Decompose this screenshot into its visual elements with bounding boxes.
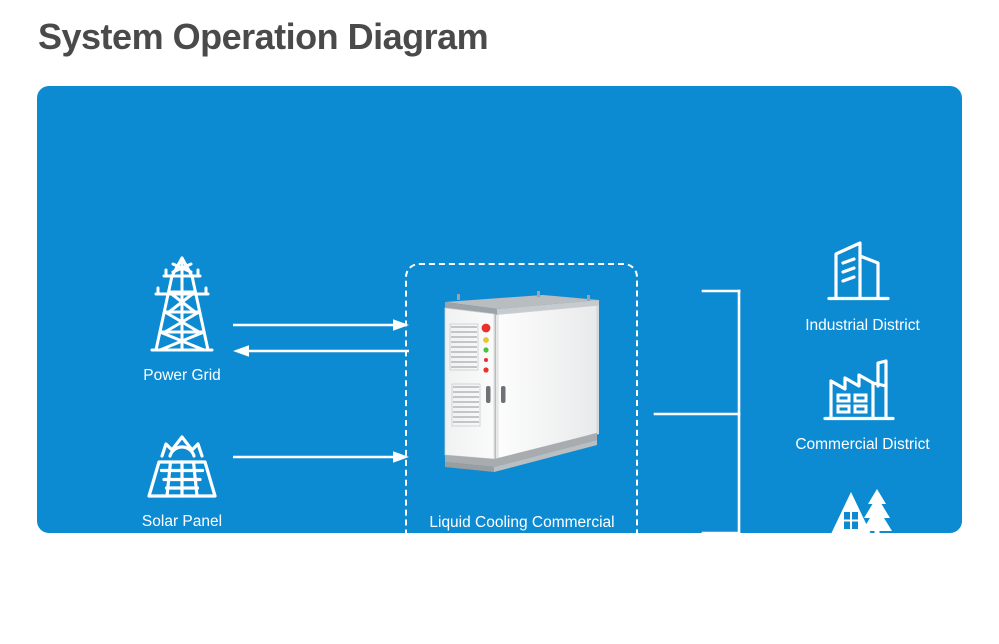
energy-storage-label-line1: Liquid Cooling Commercial: [409, 514, 635, 533]
arrow-left-icon-storage-to-grid: [233, 344, 409, 358]
transmission-tower-icon: [142, 254, 222, 354]
energy-storage-cabinet-icon: [437, 286, 607, 486]
energy-storage-label-line2: Energy Storage System: [409, 552, 635, 571]
industrial-district-label: Industrial District: [755, 317, 970, 336]
page-title: System Operation Diagram: [38, 16, 488, 58]
house-and-tree-icon: [825, 484, 899, 546]
remote-enterprises-label-line1: Enterprises Located: [755, 568, 970, 587]
energy-storage-label: Liquid Cooling Commercial Energy Storage…: [409, 495, 635, 590]
factory-icon: [821, 358, 899, 426]
arrow-right-icon-grid-to-storage: [233, 318, 409, 332]
diagram-panel: Power Grid Solar Panel: [37, 86, 962, 533]
remote-enterprises-label: Enterprises Located In Remote: [755, 549, 970, 644]
arrow-right-icon-solar-to-storage: [233, 450, 409, 464]
solar-panel-icon: [137, 426, 227, 506]
office-buildings-icon: [824, 238, 896, 306]
solar-panel-label: Solar Panel: [102, 513, 262, 532]
power-grid-label: Power Grid: [102, 367, 262, 386]
bracket-connector-icon: [649, 281, 749, 546]
remote-enterprises-label-line2: In Remote: [755, 606, 970, 625]
commercial-district-label: Commercial District: [755, 436, 970, 455]
